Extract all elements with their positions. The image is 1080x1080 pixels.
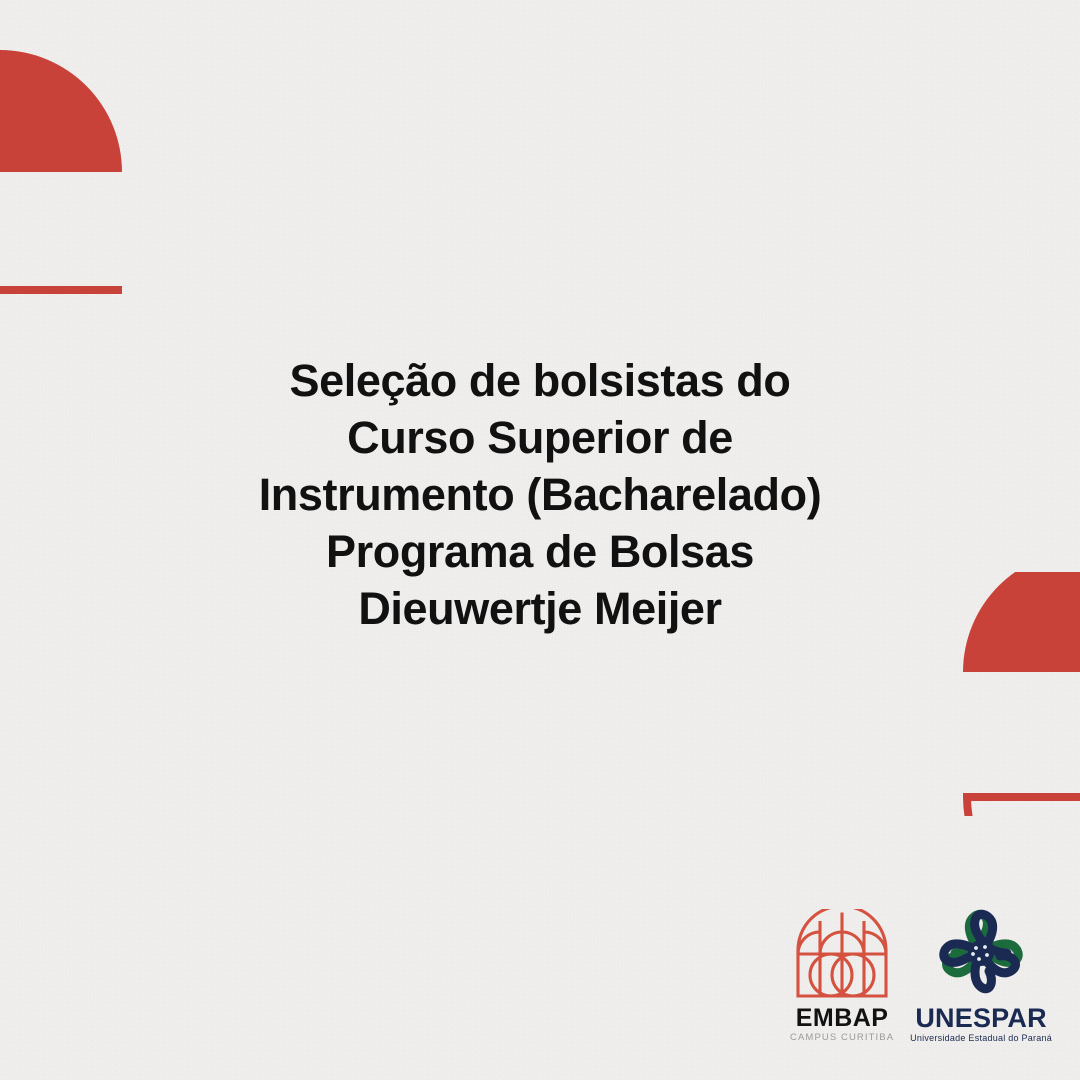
unespar-subtitle: Universidade Estadual do Paraná [910,1033,1052,1044]
unespar-logo: UNESPAR Universidade Estadual do Paraná [910,907,1052,1044]
embap-wordmark: EMBAP [796,1005,889,1031]
headline-line-2: Curso Superior de [70,409,1010,466]
headline-line-3: Instrumento (Bacharelado) [70,466,1010,523]
poster-canvas: Seleção de bolsistas do Curso Superior d… [0,0,1080,1080]
embap-logo: EMBAP CAMPUS CURITIBA [790,909,894,1044]
embap-arched-window-icon [795,909,889,999]
unespar-wordmark: UNESPAR [915,1004,1046,1032]
unespar-flower-emblem-icon [929,907,1033,999]
arch-motif-top-left-icon [0,50,122,294]
headline-line-1: Seleção de bolsistas do [70,352,1010,409]
headline-block: Seleção de bolsistas do Curso Superior d… [0,352,1080,637]
logo-strip: EMBAP CAMPUS CURITIBA [790,907,1052,1044]
embap-subtitle: CAMPUS CURITIBA [790,1032,894,1044]
headline-line-4: Programa de Bolsas [70,523,1010,580]
headline-line-5: Dieuwertje Meijer [70,580,1010,637]
